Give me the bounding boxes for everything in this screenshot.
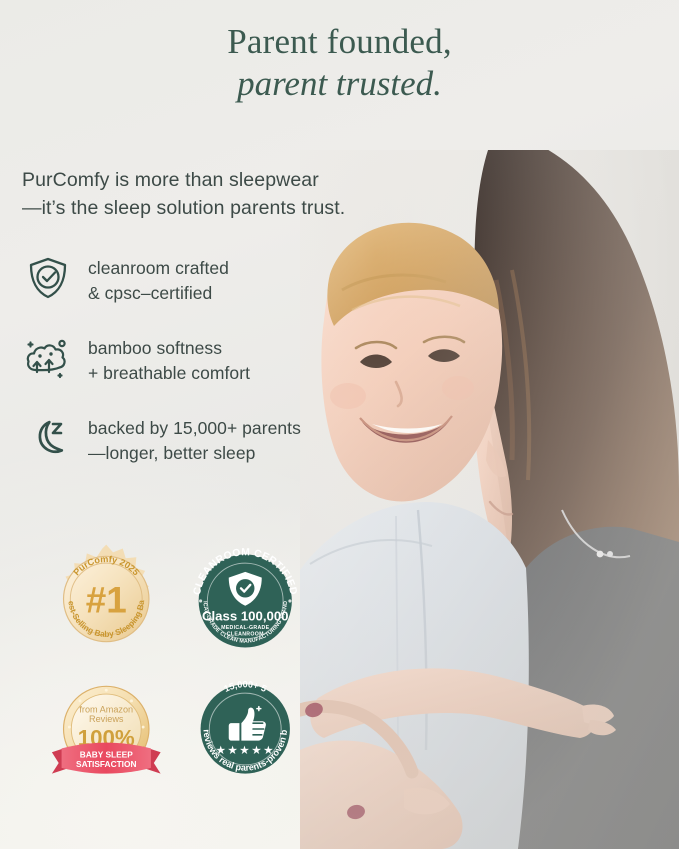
badge-amazon-satisfaction-seal: from Amazon Reviews 100% BABY SLEEP SATI… — [48, 668, 165, 790]
feature-bamboo-line-2: + breathable comfort — [88, 361, 250, 386]
badge2-center: Class 100,000 — [201, 608, 288, 623]
feature-cleanroom-line-1: cleanroom crafted — [88, 256, 229, 281]
subheading-line-1: PurComfy is more than sleepwear — [22, 169, 319, 191]
badge-row-1: PurComfy 2025 Best-Selling Baby Sleeping… — [48, 538, 303, 660]
badge3-top-1: from Amazon — [79, 704, 133, 714]
feature-item-cleanroom: cleanroom crafted & cpsc–certified — [22, 252, 352, 307]
shield-check-icon — [22, 252, 74, 304]
badge2-sub-1: MEDICAL-GRADE — [221, 625, 269, 631]
page-title: Parent founded, parent trusted. — [0, 22, 679, 103]
heading-line-2: parent trusted. — [0, 64, 679, 104]
badge-row-2: from Amazon Reviews 100% BABY SLEEP SATI… — [48, 668, 303, 790]
hero-photo — [300, 150, 679, 849]
feature-text-sleep: backed by 15,000+ parents —longer, bette… — [88, 412, 301, 467]
feature-list: cleanroom crafted & cpsc–certified — [22, 252, 352, 491]
badge2-sub-2: CLEANROOM — [226, 631, 263, 637]
feature-item-sleep: backed by 15,000+ parents —longer, bette… — [22, 412, 352, 467]
badge3-ribbon-line-2: SATISFACTION — [76, 759, 136, 769]
subheading: PurComfy is more than sleepwear —it’s th… — [22, 167, 402, 222]
badge-best-seller-seal: PurComfy 2025 Best-Selling Baby Sleeping… — [48, 538, 165, 660]
feature-sleep-line-1: backed by 15,000+ parents — [88, 416, 301, 441]
heading-line-1: Parent founded, — [0, 22, 679, 62]
feature-cleanroom-line-2: & cpsc–certified — [88, 281, 229, 306]
bamboo-cloud-icon — [22, 332, 74, 384]
badge1-center: #1 — [86, 580, 127, 621]
feature-text-bamboo: bamboo softness + breathable comfort — [88, 332, 250, 387]
moon-z-icon — [22, 412, 74, 464]
feature-item-bamboo: bamboo softness + breathable comfort — [22, 332, 352, 387]
badge-cleanroom-certified-seal: CLEANROOM CERTIFIED MEDICAL-GRADE CLEAN … — [187, 538, 304, 660]
badge-reviews-seal: 15,000+ 5 star reviews real parents-prov… — [187, 668, 304, 790]
badge3-top-2: Reviews — [89, 714, 124, 724]
marketing-infographic: Parent founded, parent trusted. PurComfy… — [0, 0, 679, 849]
feature-bamboo-line-1: bamboo softness — [88, 336, 250, 361]
feature-text-cleanroom: cleanroom crafted & cpsc–certified — [88, 252, 229, 307]
badge4-stars: ★★★★★ — [215, 743, 274, 757]
subheading-line-2: —it’s the sleep solution parents trust. — [22, 195, 402, 223]
badge3-ribbon: BABY SLEEP SATISFACTION — [52, 743, 161, 774]
trust-badges: PurComfy 2025 Best-Selling Baby Sleeping… — [48, 538, 303, 798]
feature-sleep-line-2: —longer, better sleep — [88, 441, 301, 466]
